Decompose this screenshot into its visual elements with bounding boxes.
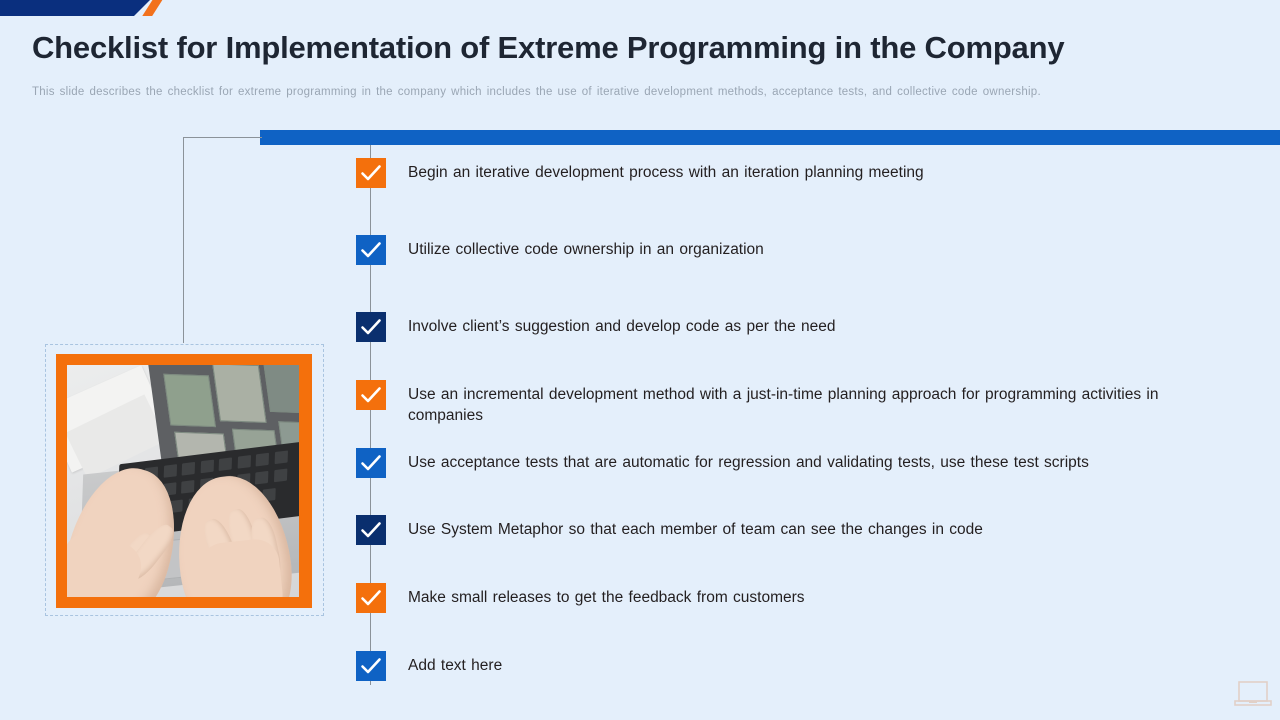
list-item[interactable]: Begin an iterative development process w…: [356, 158, 924, 188]
connector-elbow-line: [183, 137, 262, 343]
header-divider-band: [260, 130, 1280, 145]
photo-keyboard-key: [200, 460, 213, 474]
photo-keyboard-key: [274, 469, 287, 483]
list-item-label: Involve client’s suggestion and develop …: [408, 312, 836, 337]
photo-keyboard-key: [181, 480, 194, 494]
photo-screen-thumbnail: [213, 365, 267, 423]
photo-keyboard-key: [219, 458, 232, 472]
checkbox-checked-icon[interactable]: [356, 448, 386, 478]
list-item[interactable]: Involve client’s suggestion and develop …: [356, 312, 836, 342]
checkbox-checked-icon[interactable]: [356, 380, 386, 410]
photo-screen-thumbnail: [262, 365, 299, 413]
list-item[interactable]: Make small releases to get the feedback …: [356, 583, 805, 613]
photo-keyboard-key: [237, 456, 250, 470]
checkbox-checked-icon[interactable]: [356, 312, 386, 342]
page-title: Checklist for Implementation of Extreme …: [32, 30, 1232, 66]
photo-frame[interactable]: [56, 354, 312, 608]
photo-right-arm: [198, 537, 285, 597]
checkbox-checked-icon-glyph: [356, 515, 386, 545]
checkbox-checked-icon-glyph: [356, 448, 386, 478]
checkbox-checked-icon-glyph: [356, 235, 386, 265]
list-item[interactable]: Use an incremental development method wi…: [356, 380, 1216, 426]
photo-keyboard-key: [255, 471, 268, 485]
list-item[interactable]: Add text here: [356, 651, 502, 681]
laptop-icon: [1234, 674, 1272, 714]
checkbox-checked-icon-glyph: [356, 312, 386, 342]
photo-keyboard-key: [182, 462, 195, 476]
photo-keyboard-key: [256, 453, 269, 467]
checkbox-checked-icon-glyph: [356, 380, 386, 410]
checkbox-checked-icon-glyph: [356, 583, 386, 613]
list-item-label: Make small releases to get the feedback …: [408, 583, 805, 608]
checkbox-checked-icon[interactable]: [356, 583, 386, 613]
list-item[interactable]: Use acceptance tests that are automatic …: [356, 448, 1089, 478]
list-item-label: Use an incremental development method wi…: [408, 380, 1208, 426]
top-accent-bar: [0, 0, 1280, 16]
list-item-label: Utilize collective code ownership in an …: [408, 235, 764, 260]
list-item-label: Begin an iterative development process w…: [408, 158, 924, 183]
checkbox-checked-icon[interactable]: [356, 515, 386, 545]
list-item-label: Use System Metaphor so that each member …: [408, 515, 983, 540]
list-item[interactable]: Utilize collective code ownership in an …: [356, 235, 764, 265]
checkbox-checked-icon-glyph: [356, 651, 386, 681]
list-item[interactable]: Use System Metaphor so that each member …: [356, 515, 983, 545]
list-item-label: Add text here: [408, 651, 502, 676]
photo-keyboard-key: [275, 451, 288, 465]
photo-screen-thumbnail: [163, 374, 216, 427]
navy-accent-shape: [0, 0, 150, 16]
checkbox-checked-icon-glyph: [356, 158, 386, 188]
laptop-typing-photo: [67, 365, 299, 597]
checkbox-checked-icon[interactable]: [356, 158, 386, 188]
photo-keyboard-key: [163, 465, 176, 479]
list-item-label: Use acceptance tests that are automatic …: [408, 448, 1089, 473]
checkbox-checked-icon[interactable]: [356, 651, 386, 681]
page-subtitle: This slide describes the checklist for e…: [32, 86, 1242, 98]
checkbox-checked-icon[interactable]: [356, 235, 386, 265]
